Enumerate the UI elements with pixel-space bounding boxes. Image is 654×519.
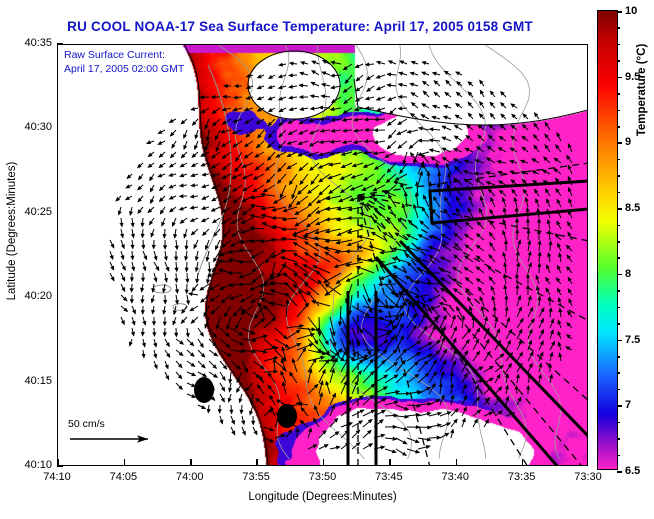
x-axis-tickmark — [124, 459, 126, 465]
y-axis-tick-label: 40:10 — [4, 459, 52, 471]
x-axis-tick-label: 73:35 — [494, 471, 550, 483]
current-annotation-line2: April 17, 2005 02:00 GMT — [64, 62, 184, 76]
x-axis-tick-label: 73:30 — [560, 471, 616, 483]
colorbar-minor-tickmark — [617, 356, 620, 358]
colorbar-minor-tickmark — [617, 257, 620, 259]
y-axis-tick-label: 40:15 — [4, 375, 52, 387]
colorbar-tick-label: 6.5 — [625, 465, 640, 477]
map-canvas-layer — [58, 45, 587, 465]
y-axis-tick-label: 40:30 — [4, 121, 52, 133]
colorbar-minor-tickmark — [617, 471, 620, 473]
x-axis-tickmark — [57, 459, 59, 465]
colorbar-minor-tickmark — [617, 142, 620, 144]
current-annotation-line1: Raw Surface Current: — [64, 48, 184, 62]
colorbar-minor-tickmark — [617, 438, 620, 440]
colorbar-minor-tickmark — [617, 192, 620, 194]
y-axis-tick-label: 40:35 — [4, 37, 52, 49]
colorbar-minor-tickmark — [617, 323, 620, 325]
figure-title: RU COOL NOAA-17 Sea Surface Temperature:… — [0, 19, 600, 34]
sst-map-figure: RU COOL NOAA-17 Sea Surface Temperature:… — [0, 0, 654, 519]
colorbar-minor-tickmark — [617, 175, 620, 177]
x-axis-tick-label: 73:40 — [427, 471, 483, 483]
colorbar-tick-label: 7.5 — [625, 334, 640, 346]
vector-scale-legend: 50 cm/s — [68, 418, 154, 451]
x-axis-tickmark — [256, 459, 258, 465]
colorbar-minor-tickmark — [617, 110, 620, 112]
colorbar-minor-tickmark — [617, 389, 620, 391]
colorbar-minor-tickmark — [617, 307, 620, 309]
colorbar-minor-tickmark — [617, 274, 620, 276]
x-axis-tickmark — [522, 459, 524, 465]
colorbar-minor-tickmark — [617, 126, 620, 128]
x-axis-tick-label: 74:00 — [162, 471, 218, 483]
y-axis-tick-label: 40:25 — [4, 206, 52, 218]
colorbar-minor-tickmark — [617, 422, 620, 424]
y-axis: Latitude (Degrees:Minutes) — [0, 44, 20, 466]
x-axis-tick-label: 73:45 — [361, 471, 417, 483]
colorbar-minor-tickmark — [617, 241, 620, 243]
colorbar-minor-tickmark — [617, 60, 620, 62]
vector-scale-label: 50 cm/s — [68, 418, 154, 430]
colorbar-tick-label: 8.5 — [625, 202, 640, 214]
x-axis-tickmark — [389, 459, 391, 465]
colorbar-tick-label: 9 — [625, 136, 631, 148]
colorbar-minor-tickmark — [617, 11, 620, 13]
x-axis-tickmark — [190, 459, 192, 465]
x-axis-label: Longitude (Degrees:Minutes) — [57, 491, 588, 503]
colorbar-minor-tickmark — [617, 77, 620, 79]
x-axis-tickmark — [456, 459, 458, 465]
x-axis-tick-label: 74:05 — [95, 471, 151, 483]
colorbar-minor-tickmark — [617, 44, 620, 46]
colorbar-minor-tickmark — [617, 208, 620, 210]
x-axis-tick-label: 73:55 — [228, 471, 284, 483]
colorbar-minor-tickmark — [617, 455, 620, 457]
colorbar-minor-tickmark — [617, 405, 620, 407]
colorbar-minor-tickmark — [617, 93, 620, 95]
surface-current-vectors — [110, 61, 572, 456]
colorbar-gradient — [598, 11, 617, 469]
x-axis-tick-label: 73:50 — [295, 471, 351, 483]
colorbar-minor-tickmark — [617, 340, 620, 342]
current-annotation: Raw Surface Current: April 17, 2005 02:0… — [64, 48, 184, 76]
colorbar-minor-tickmark — [617, 290, 620, 292]
colorbar-label: Temperature (°C) — [636, 5, 648, 175]
colorbar-minor-tickmark — [617, 225, 620, 227]
y-axis-tick-label: 40:20 — [4, 290, 52, 302]
colorbar-tick-label: 7 — [625, 399, 631, 411]
colorbar: 109.598.587.576.5 — [597, 10, 618, 470]
right-arrow-icon — [68, 432, 154, 446]
colorbar-minor-tickmark — [617, 159, 620, 161]
x-axis-tickmark — [323, 459, 325, 465]
x-axis-tick-label: 74:10 — [29, 471, 85, 483]
colorbar-minor-tickmark — [617, 27, 620, 29]
map-plot-area[interactable]: Raw Surface Current: April 17, 2005 02:0… — [57, 44, 588, 466]
colorbar-minor-tickmark — [617, 372, 620, 374]
colorbar-tick-label: 8 — [625, 268, 631, 280]
overlay-layer — [58, 45, 587, 465]
